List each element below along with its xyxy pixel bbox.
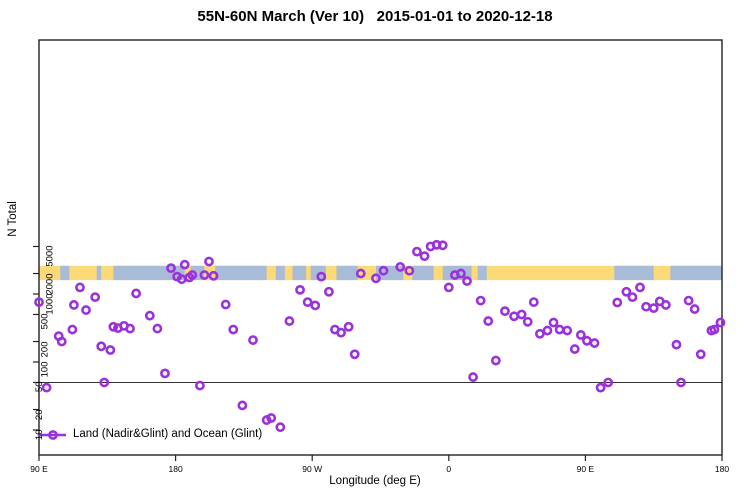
data-point[interactable] (564, 327, 571, 334)
ocean-band-segment (478, 266, 487, 280)
data-point[interactable] (439, 242, 446, 249)
ocean-band-segment (276, 266, 285, 280)
data-point[interactable] (717, 319, 724, 326)
legend-label: Land (Nadir&Glint) and Ocean (Glint) (73, 428, 262, 440)
data-point[interactable] (222, 301, 229, 308)
y-tick-label: 1000 (45, 294, 56, 315)
data-point[interactable] (351, 351, 358, 358)
data-point[interactable] (571, 345, 578, 352)
ocean-band-segment (292, 266, 306, 280)
data-point[interactable] (463, 277, 470, 284)
data-point[interactable] (518, 311, 525, 318)
data-point[interactable] (161, 370, 168, 377)
data-point[interactable] (492, 357, 499, 364)
data-point[interactable] (69, 326, 76, 333)
data-point[interactable] (181, 261, 188, 268)
x-tick-label: 180 (154, 464, 198, 474)
data-point[interactable] (501, 308, 508, 315)
data-point[interactable] (583, 337, 590, 344)
y-tick-label: 100 (39, 362, 50, 378)
data-point[interactable] (556, 326, 563, 333)
ocean-band-segment (97, 266, 102, 280)
data-point[interactable] (445, 284, 452, 291)
data-point[interactable] (196, 382, 203, 389)
data-point[interactable] (76, 284, 83, 291)
data-point[interactable] (82, 306, 89, 313)
data-point[interactable] (337, 329, 344, 336)
data-point[interactable] (312, 302, 319, 309)
y-tick-label: 2000 (45, 273, 56, 294)
y-tick-label: 20 (34, 409, 45, 420)
data-point[interactable] (277, 424, 284, 431)
data-point[interactable] (469, 373, 476, 380)
x-tick-label: 90 E (17, 464, 61, 474)
data-point[interactable] (636, 284, 643, 291)
y-tick-label: 50 (34, 382, 45, 393)
data-point[interactable] (691, 305, 698, 312)
data-point[interactable] (550, 319, 557, 326)
x-tick-label: 0 (427, 464, 471, 474)
data-point[interactable] (325, 288, 332, 295)
data-point[interactable] (485, 317, 492, 324)
data-point[interactable] (268, 414, 275, 421)
data-point[interactable] (239, 402, 246, 409)
data-point[interactable] (629, 294, 636, 301)
ocean-band-segment (670, 266, 722, 280)
data-point[interactable] (421, 253, 428, 260)
data-point[interactable] (70, 301, 77, 308)
chart-canvas: 55N-60N March (Ver 10) 2015-01-01 to 202… (0, 0, 750, 500)
data-point[interactable] (133, 290, 140, 297)
data-point[interactable] (597, 384, 604, 391)
data-point[interactable] (126, 325, 133, 332)
data-point[interactable] (530, 299, 537, 306)
y-tick-label: 200 (39, 341, 50, 357)
x-tick-label: 180 (700, 464, 744, 474)
data-point[interactable] (98, 343, 105, 350)
data-point[interactable] (643, 303, 650, 310)
data-point[interactable] (685, 297, 692, 304)
ocean-band-segment (336, 266, 357, 280)
x-tick-label: 90 E (563, 464, 607, 474)
data-point[interactable] (304, 299, 311, 306)
data-point[interactable] (510, 313, 517, 320)
data-point[interactable] (697, 351, 704, 358)
axis-frame (39, 40, 722, 455)
data-point[interactable] (58, 338, 65, 345)
data-point[interactable] (524, 318, 531, 325)
ocean-band-segment (412, 266, 433, 280)
data-point[interactable] (92, 294, 99, 301)
data-point[interactable] (230, 326, 237, 333)
y-tick-label: 10 (34, 430, 45, 441)
data-point[interactable] (154, 325, 161, 332)
data-point[interactable] (544, 327, 551, 334)
plot-area (0, 0, 750, 500)
y-tick-label: 500 (39, 314, 50, 330)
ocean-band-segment (215, 266, 267, 280)
data-point[interactable] (614, 299, 621, 306)
data-point[interactable] (345, 323, 352, 330)
data-point[interactable] (107, 346, 114, 353)
data-point[interactable] (591, 339, 598, 346)
ocean-band-segment (614, 266, 653, 280)
data-point[interactable] (673, 341, 680, 348)
x-tick-label: 90 W (290, 464, 334, 474)
ocean-band-segment (60, 266, 69, 280)
data-point[interactable] (650, 305, 657, 312)
data-point[interactable] (413, 248, 420, 255)
data-point[interactable] (662, 301, 669, 308)
data-point[interactable] (146, 312, 153, 319)
data-point[interactable] (249, 336, 256, 343)
data-point[interactable] (477, 297, 484, 304)
data-point[interactable] (286, 317, 293, 324)
y-tick-label: 5000 (45, 246, 56, 267)
data-point[interactable] (296, 286, 303, 293)
data-point[interactable] (536, 330, 543, 337)
data-point[interactable] (205, 258, 212, 265)
